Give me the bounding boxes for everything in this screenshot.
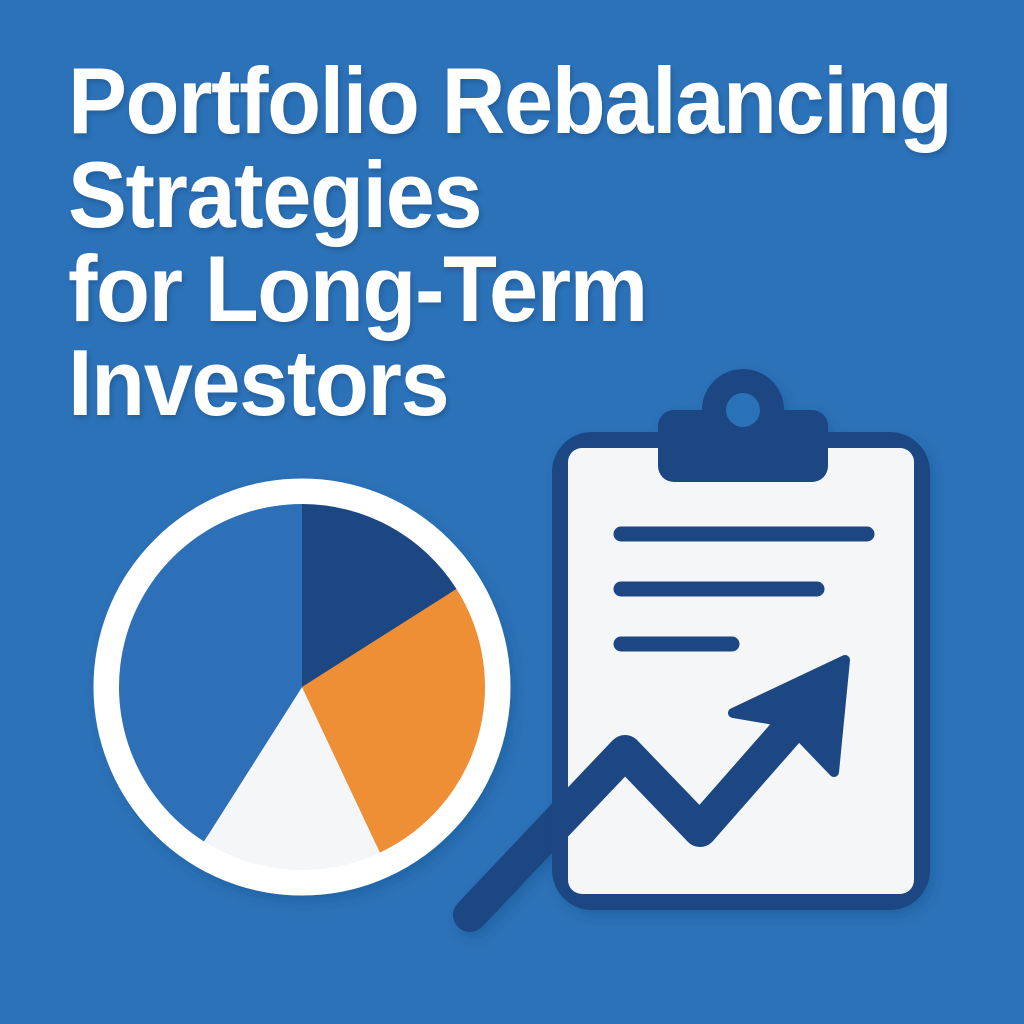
page-title: Portfolio Rebalancing Strategies for Lon… xyxy=(68,54,998,430)
title-line-2: Strategies xyxy=(68,148,942,242)
clipboard-paper xyxy=(568,448,914,894)
pie-chart xyxy=(111,496,494,879)
title-line-4: Investors xyxy=(68,336,942,430)
title-line-3: for Long-Term xyxy=(68,242,942,336)
title-line-1: Portfolio Rebalancing xyxy=(68,54,942,148)
poster-canvas: Portfolio Rebalancing Strategies for Lon… xyxy=(0,0,1024,1024)
